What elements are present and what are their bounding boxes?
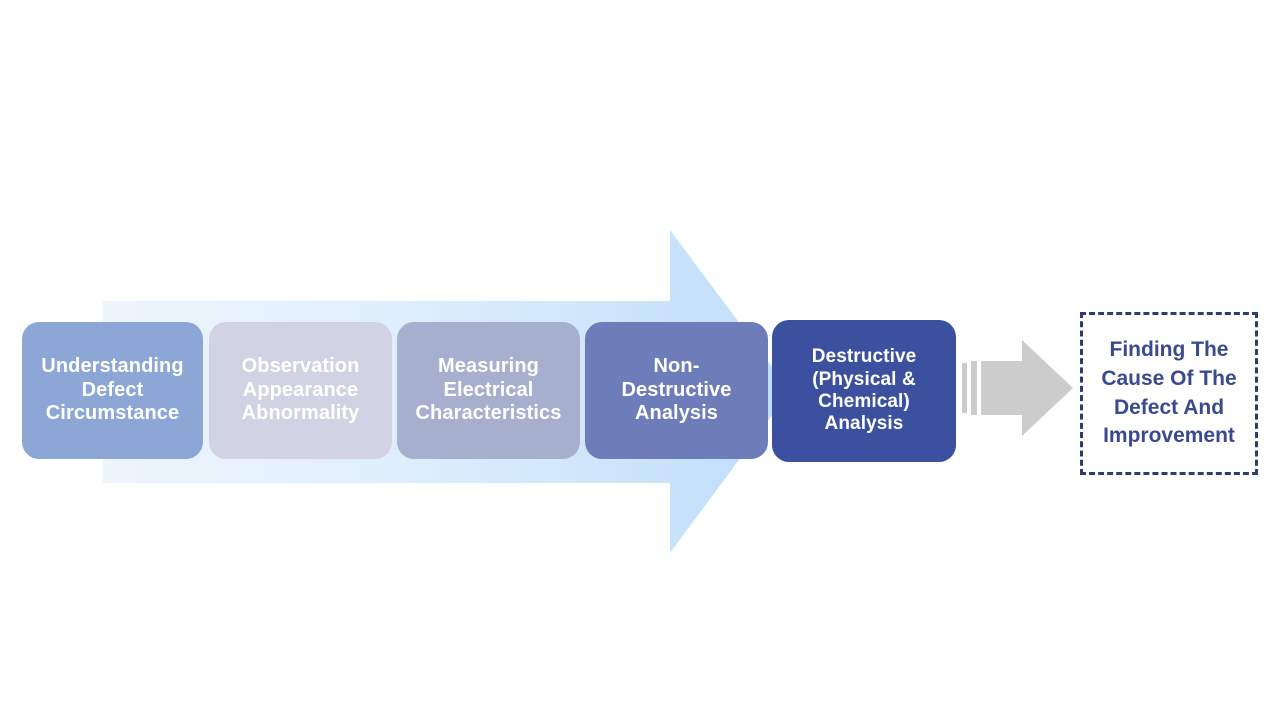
stage-label: Measuring Electrical Characteristics xyxy=(415,355,561,426)
outcome-label: Finding The Cause Of The Defect And Impr… xyxy=(1101,336,1236,452)
stage-label: Non- Destructive Analysis xyxy=(621,355,731,426)
outcome-box[interactable]: Finding The Cause Of The Defect And Impr… xyxy=(1080,312,1258,475)
stage-box-observation-appearance-abnormality[interactable]: Observation Appearance Abnormality xyxy=(209,322,392,459)
stage-box-destructive-analysis[interactable]: Destructive (Physical & Chemical) Analys… xyxy=(772,320,956,462)
stage-label: Understanding Defect Circumstance xyxy=(41,355,183,426)
stage-label: Observation Appearance Abnormality xyxy=(242,355,360,426)
stage-label: Destructive (Physical & Chemical) Analys… xyxy=(812,346,917,436)
diagram-canvas: Understanding Defect Circumstance Observ… xyxy=(0,0,1280,720)
stage-box-non-destructive-analysis[interactable]: Non- Destructive Analysis xyxy=(585,322,768,459)
stage-box-measuring-electrical-characteristics[interactable]: Measuring Electrical Characteristics xyxy=(397,322,580,459)
stage-box-understanding-defect-circumstance[interactable]: Understanding Defect Circumstance xyxy=(22,322,203,459)
striped-right-arrow-icon xyxy=(960,336,1075,440)
